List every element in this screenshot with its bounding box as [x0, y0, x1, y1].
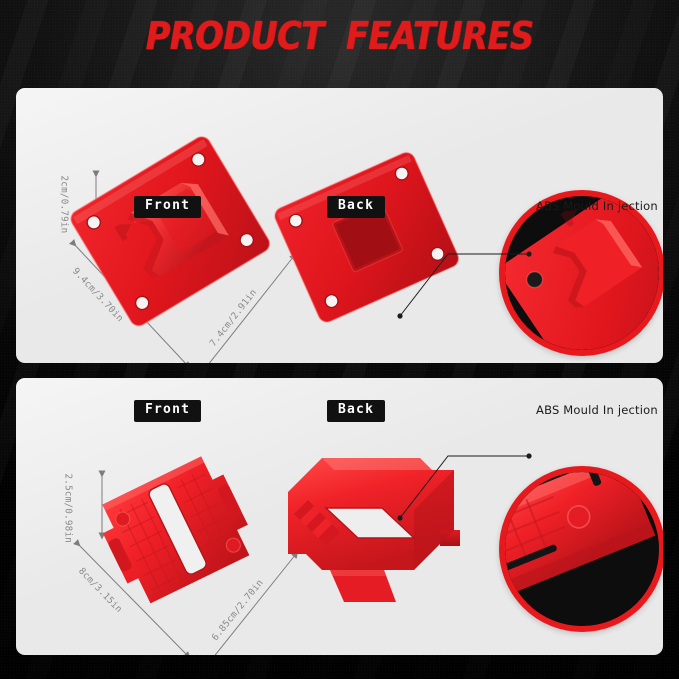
dimension-label-thickness-2: 2.5cm/0.98in [63, 474, 74, 544]
callout-dot-icon [526, 251, 531, 256]
feature-panel-battery-holder-bracket: Front Back [16, 378, 663, 655]
callout-dot-icon [397, 313, 402, 318]
callout-dot-icon [397, 515, 402, 520]
callout-leader-line-2 [388, 418, 548, 528]
page-title: PRODUCT FEATURES [41, 17, 639, 55]
callout-leader-line-1 [388, 214, 548, 324]
back-view-badge-2: Back [327, 400, 385, 422]
product-features-infographic: PRODUCT FEATURES Front Back [0, 0, 679, 679]
callout-label-2: ABS Mould In jection [536, 403, 658, 417]
callout-label-1: ABS Mould In jection [536, 199, 658, 213]
front-view-badge-2: Front [134, 400, 201, 422]
front-view-badge-1: Front [134, 196, 201, 218]
callout-dot-icon [526, 453, 531, 458]
back-view-badge-1: Back [327, 196, 385, 218]
feature-panel-wall-mount-plate: Front Back [16, 88, 663, 363]
dimension-label-thickness-1: 2cm/0.79in [59, 176, 70, 234]
